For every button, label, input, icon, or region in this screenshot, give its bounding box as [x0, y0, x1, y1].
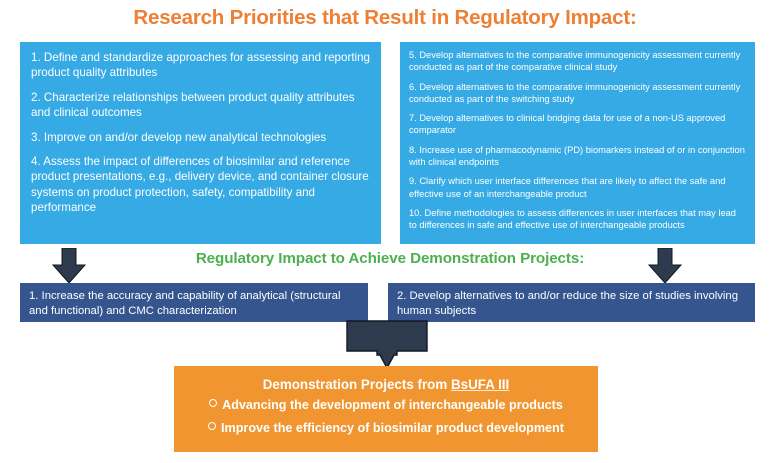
demo-bullet-label: Improve the efficiency of biosimilar pro… [221, 421, 564, 435]
priority-item: 9. Clarify which user interface differen… [409, 175, 746, 200]
hollow-bullet-icon [208, 422, 216, 430]
priority-item: 8. Increase use of pharmacodynamic (PD) … [409, 144, 746, 169]
regulatory-impact-box-1: 1. Increase the accuracy and capability … [20, 283, 368, 322]
hollow-bullet-icon [209, 399, 217, 407]
priority-item: 6. Develop alternatives to the comparati… [409, 81, 746, 106]
research-priorities-left-box: 1. Define and standardize approaches for… [20, 42, 381, 244]
page-title: Research Priorities that Result in Regul… [0, 6, 770, 30]
priority-item: 10. Define methodologies to assess diffe… [409, 207, 746, 232]
priority-item: 7. Develop alternatives to clinical brid… [409, 112, 746, 137]
demo-heading: Demonstration Projects from BsUFA III [174, 375, 598, 394]
regulatory-impact-box-2: 2. Develop alternatives to and/or reduce… [388, 283, 755, 322]
demo-bullet-label: Advancing the development of interchange… [222, 398, 563, 412]
priority-item: 4. Assess the impact of differences of b… [31, 154, 371, 216]
demo-bullet: Advancing the development of interchange… [174, 394, 598, 417]
priority-item: 2. Characterize relationships between pr… [31, 90, 371, 121]
diagram-canvas: Research Priorities that Result in Regul… [0, 0, 770, 463]
priority-item: 3. Improve on and/or develop new analyti… [31, 130, 371, 145]
demo-heading-prefix: Demonstration Projects from [263, 377, 451, 392]
priority-item: 5. Develop alternatives to the comparati… [409, 49, 746, 74]
demo-bullet: Improve the efficiency of biosimilar pro… [174, 417, 598, 440]
research-priorities-right-box: 5. Develop alternatives to the comparati… [400, 42, 755, 244]
priority-item: 1. Define and standardize approaches for… [31, 50, 371, 81]
demonstration-projects-box: Demonstration Projects from BsUFA III Ad… [174, 366, 598, 452]
demo-heading-spellchecked: BsUFA III [451, 377, 509, 392]
section-title: Regulatory Impact to Achieve Demonstrati… [150, 250, 630, 267]
